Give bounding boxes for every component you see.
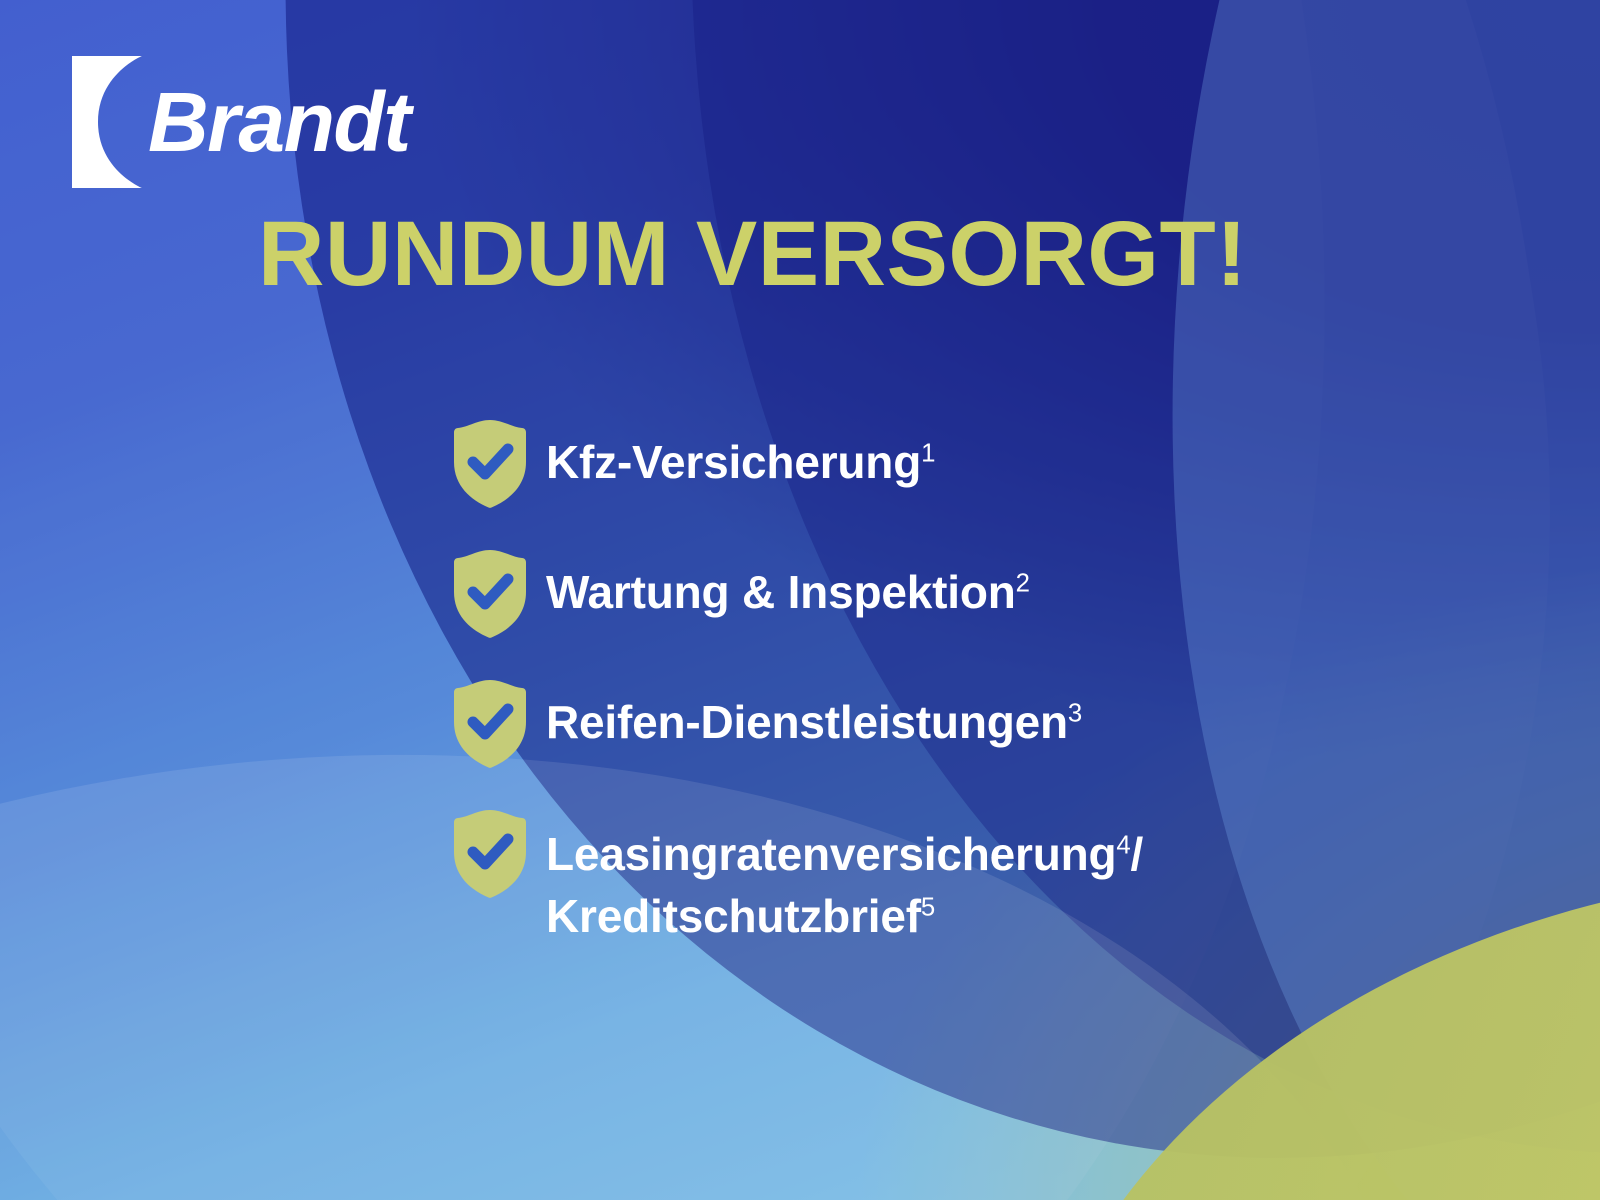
shield-check-icon: [452, 808, 528, 900]
list-item-label: Kfz-Versicherung1: [546, 418, 935, 492]
benefits-list: Kfz-Versicherung1 Wartung & Inspektion2 …: [452, 418, 1512, 985]
page-title: RUNDUM VERSORGT!: [258, 206, 1247, 303]
label-separator: /: [1131, 828, 1144, 880]
list-item: Kfz-Versicherung1: [452, 418, 1512, 510]
footnote-marker: 1: [921, 440, 935, 468]
footnote-marker: 3: [1068, 700, 1082, 728]
bracket-arc-mark-icon: [72, 56, 142, 188]
footnote-marker: 5: [921, 893, 935, 921]
brand-name: Brandt: [148, 80, 410, 164]
list-item: Leasingratenversicherung4/Kreditschutzbr…: [452, 808, 1512, 947]
brand-logo: Brandt: [72, 52, 410, 192]
promo-banner: Brandt RUNDUM VERSORGT! Kfz-Versicherung…: [0, 0, 1600, 1200]
shield-check-icon: [452, 548, 528, 640]
list-item: Reifen-Dienstleistungen3: [452, 678, 1512, 770]
list-item-label: Leasingratenversicherung4/Kreditschutzbr…: [546, 808, 1143, 947]
footnote-marker: 2: [1016, 570, 1030, 598]
footnote-marker: 4: [1116, 832, 1130, 860]
list-item: Wartung & Inspektion2: [452, 548, 1512, 640]
shield-check-icon: [452, 678, 528, 770]
shield-check-icon: [452, 418, 528, 510]
list-item-label: Wartung & Inspektion2: [546, 548, 1030, 622]
list-item-label: Reifen-Dienstleistungen3: [546, 678, 1082, 752]
